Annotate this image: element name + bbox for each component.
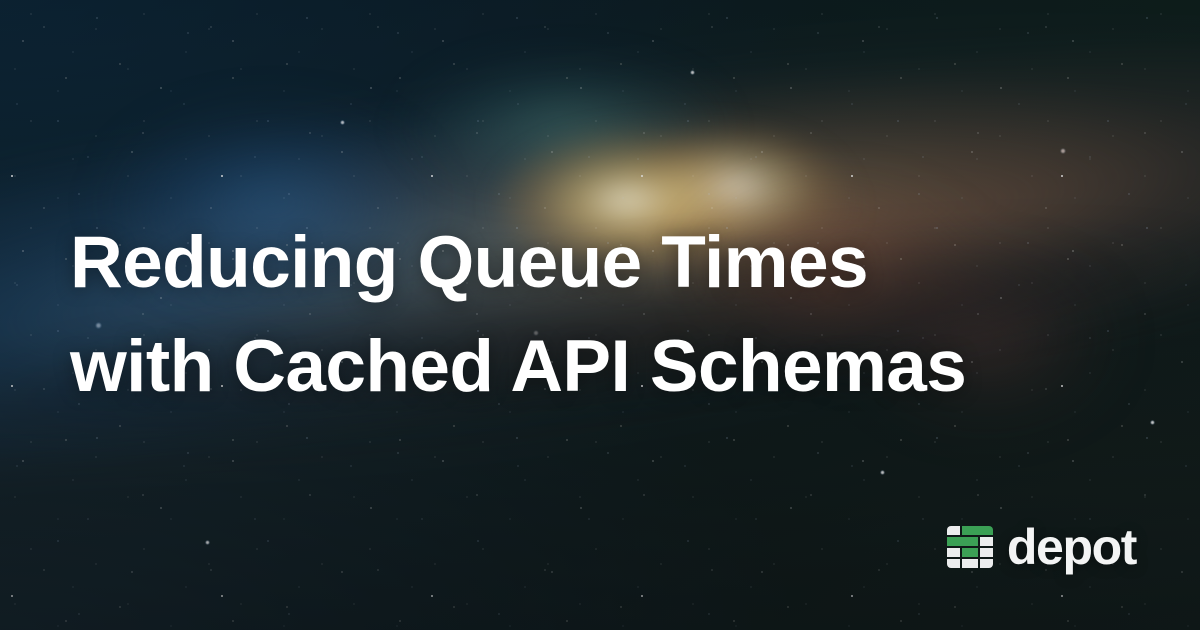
- depot-wordmark: depot: [1007, 522, 1136, 572]
- page-title: Reducing Queue Timeswith Cached API Sche…: [70, 211, 1130, 419]
- og-share-card: Reducing Queue Timeswith Cached API Sche…: [0, 0, 1200, 630]
- page-title-line-2: with Cached API Schemas: [70, 326, 966, 407]
- depot-grid-mark-icon: [947, 524, 993, 570]
- depot-logo[interactable]: depot: [947, 522, 1136, 572]
- page-title-line-1: Reducing Queue Times: [70, 222, 868, 303]
